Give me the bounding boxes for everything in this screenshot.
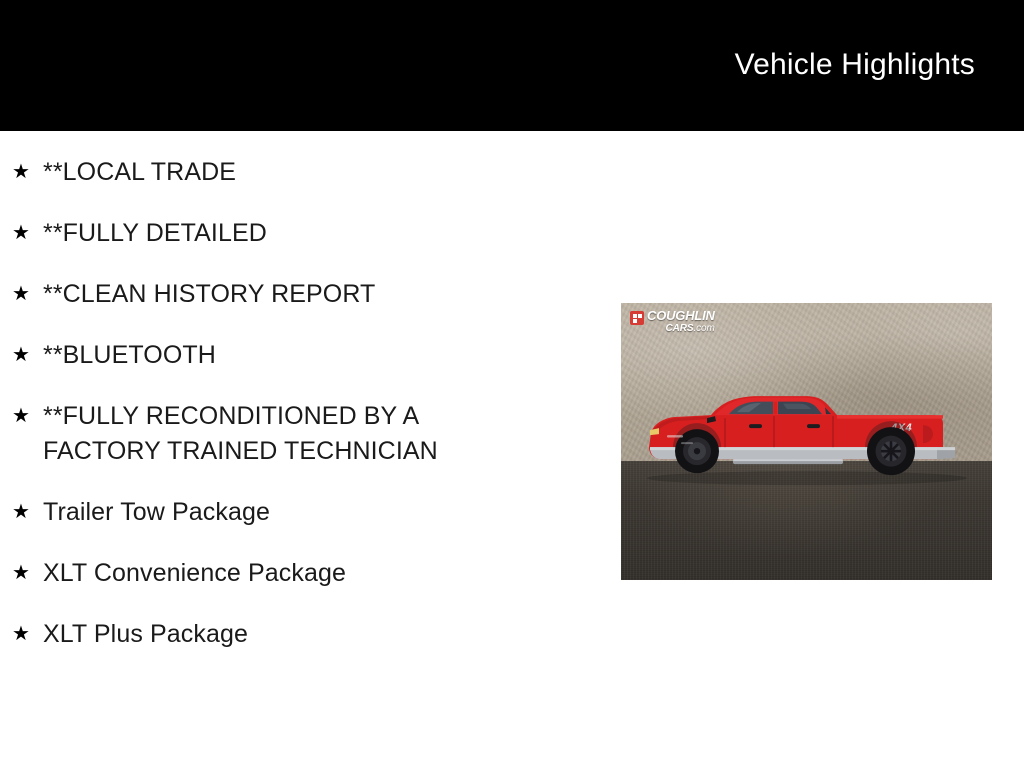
watermark-domain-bold: CARS [666, 323, 694, 334]
list-item-label: XLT Convenience Package [43, 556, 600, 591]
list-item: ★ **FULLY DETAILED [0, 216, 600, 251]
list-item: ★ **LOCAL TRADE [0, 155, 600, 190]
list-item: ★ **CLEAN HISTORY REPORT [0, 277, 600, 312]
list-item-label: **FULLY RECONDITIONED BY A FACTORY TRAIN… [43, 399, 600, 469]
truck-illustration: 4X4 [637, 385, 977, 489]
star-bullet-icon: ★ [12, 280, 30, 309]
star-bullet-icon: ★ [12, 158, 30, 187]
list-item-label: **CLEAN HISTORY REPORT [43, 277, 600, 312]
vehicle-highlights-list: ★ **LOCAL TRADE ★ **FULLY DETAILED ★ **C… [0, 131, 600, 652]
list-item-label: Trailer Tow Package [43, 495, 600, 530]
star-bullet-icon: ★ [12, 341, 30, 370]
list-item-label: **FULLY DETAILED [43, 216, 600, 251]
star-bullet-icon: ★ [12, 559, 30, 588]
page-title: Vehicle Highlights [735, 47, 975, 83]
star-bullet-icon: ★ [12, 402, 30, 431]
watermark-brand: COUGHLIN [647, 309, 715, 322]
star-bullet-icon: ★ [12, 620, 30, 649]
list-item-label: XLT Plus Package [43, 617, 600, 652]
list-item-label: **BLUETOOTH [43, 338, 600, 373]
list-item: ★ **FULLY RECONDITIONED BY A FACTORY TRA… [0, 399, 600, 469]
star-bullet-icon: ★ [12, 219, 30, 248]
star-bullet-icon: ★ [12, 498, 30, 527]
watermark-domain: CARS.com [647, 324, 715, 334]
page-header: Vehicle Highlights [0, 0, 1024, 131]
list-item: ★ **BLUETOOTH [0, 338, 600, 373]
list-item: ★ XLT Plus Package [0, 617, 600, 652]
list-item: ★ Trailer Tow Package [0, 495, 600, 530]
coughlin-logo-icon [630, 311, 644, 325]
vehicle-photo: COUGHLIN CARS.com [621, 303, 992, 580]
watermark-domain-tld: .com [693, 323, 714, 334]
watermark-text: COUGHLIN CARS.com [647, 309, 715, 334]
list-item-label: **LOCAL TRADE [43, 155, 600, 190]
dealer-watermark: COUGHLIN CARS.com [630, 309, 715, 334]
list-item: ★ XLT Convenience Package [0, 556, 600, 591]
